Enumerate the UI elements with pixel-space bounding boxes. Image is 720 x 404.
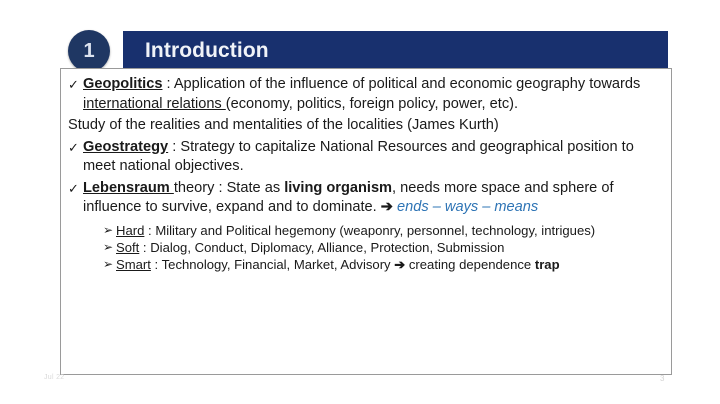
slide-canvas: 1 Introduction ✓ Geopolitics : Applicati… <box>0 0 720 404</box>
sub-bullet-smart: ➢ Smart : Technology, Financial, Market,… <box>67 256 663 273</box>
arrowhead-bullet-icon: ➢ <box>103 256 113 273</box>
bullet-geostrategy-separator: : <box>168 139 180 155</box>
bullet-geopolitics-text-b: (economy, politics, foreign policy, powe… <box>226 96 518 112</box>
bullet-lebensraum-text-a: State as <box>227 180 285 196</box>
bullet-geopolitics: ✓ Geopolitics : Application of the influ… <box>67 75 663 114</box>
paragraph-study-realities: Study of the realities and mentalities o… <box>67 116 663 136</box>
footer-date: Jul 22 <box>44 374 64 381</box>
sub-bullet-smart-separator: : <box>151 257 162 272</box>
bullet-geostrategy: ✓ Geostrategy : Strategy to capitalize N… <box>67 138 663 177</box>
arrowhead-bullet-icon: ➢ <box>103 239 113 256</box>
bullet-geopolitics-separator: : <box>162 76 173 92</box>
sub-bullet-soft-text: Dialog, Conduct, Diplomacy, Alliance, Pr… <box>150 240 504 255</box>
bullet-geopolitics-term: Geopolitics <box>83 76 162 92</box>
arrow-right-icon: ➔ <box>381 199 393 215</box>
check-icon: ✓ <box>68 138 79 158</box>
slide-header: 1 Introduction <box>0 14 720 60</box>
check-icon: ✓ <box>68 179 79 199</box>
sub-bullet-soft: ➢ Soft : Dialog, Conduct, Diplomacy, All… <box>67 239 663 256</box>
sub-bullet-hard-separator: : <box>144 223 155 238</box>
slide-title-bar: Introduction <box>123 31 668 71</box>
sub-bullet-smart-term: Smart <box>116 257 151 272</box>
sub-bullet-soft-separator: : <box>139 240 150 255</box>
sub-bullet-hard-term: Hard <box>116 223 144 238</box>
bullet-lebensraum: ✓ Lebensraum theory : State as living or… <box>67 179 663 218</box>
sub-bullet-hard: ➢ Hard : Military and Political hegemony… <box>67 222 663 239</box>
sub-bullet-smart-bold-tail: trap <box>535 257 560 272</box>
footer-page-number: 3 <box>660 374 664 383</box>
sub-bullet-soft-term: Soft <box>116 240 139 255</box>
arrowhead-bullet-icon: ➢ <box>103 222 113 239</box>
check-icon: ✓ <box>68 75 79 95</box>
sub-bullet-smart-text: Technology, Financial, Market, Advisory <box>162 257 395 272</box>
bullet-lebensraum-italic-tail: ends – ways – means <box>393 199 538 215</box>
bullet-geopolitics-underlined: international relations <box>83 96 226 112</box>
bullet-lebensraum-bold-phrase: living organism <box>284 180 392 196</box>
page-title: Introduction <box>123 39 269 63</box>
bullet-lebensraum-term: Lebensraum <box>83 180 174 196</box>
bullet-lebensraum-separator: theory : <box>174 180 227 196</box>
arrow-right-icon: ➔ <box>394 257 405 272</box>
bullet-geopolitics-text-a: Application of the influence of politica… <box>174 76 640 92</box>
bullet-geostrategy-term: Geostrategy <box>83 139 168 155</box>
content-body: ✓ Geopolitics : Application of the influ… <box>60 68 672 375</box>
sub-bullet-smart-text-tail: creating dependence <box>405 257 535 272</box>
slide-number-badge-label: 1 <box>83 41 94 61</box>
slide-number-badge: 1 <box>68 30 110 72</box>
sub-bullet-hard-text: Military and Political hegemony (weaponr… <box>155 223 595 238</box>
